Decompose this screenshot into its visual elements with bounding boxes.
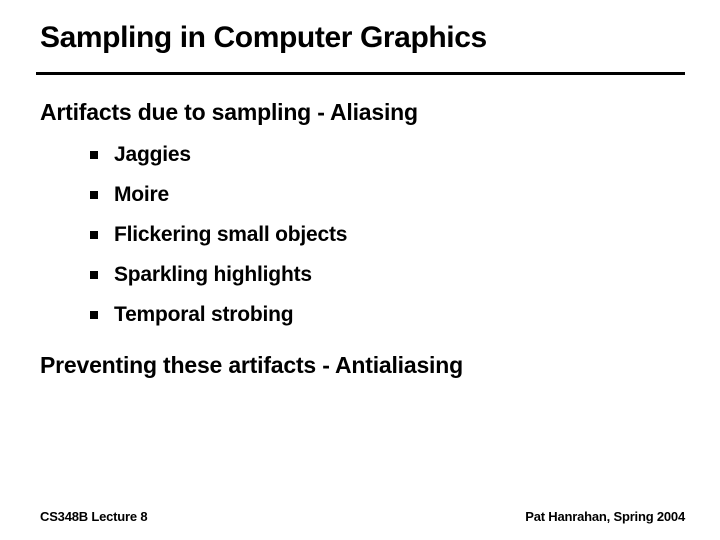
title-divider [36, 72, 685, 75]
list-item: Flickering small objects [40, 219, 690, 259]
list-item: Jaggies [40, 139, 690, 179]
list-item-label: Temporal strobing [114, 303, 293, 326]
footer-course-label: CS348B Lecture 8 [40, 509, 147, 524]
square-bullet-icon [90, 311, 98, 319]
list-item: Temporal strobing [40, 299, 690, 339]
body-closing-line: Preventing these artifacts - Antialiasin… [40, 352, 690, 378]
slide-footer: CS348B Lecture 8 Pat Hanrahan, Spring 20… [40, 509, 685, 524]
slide-canvas: Sampling in Computer Graphics Artifacts … [0, 0, 720, 540]
square-bullet-icon [90, 271, 98, 279]
square-bullet-icon [90, 231, 98, 239]
body-intro-line: Artifacts due to sampling - Aliasing [40, 99, 690, 125]
square-bullet-icon [90, 151, 98, 159]
list-item: Moire [40, 179, 690, 219]
list-item-label: Flickering small objects [114, 223, 347, 246]
list-item: Sparkling highlights [40, 259, 690, 299]
bullet-list: Jaggies Moire Flickering small objects S… [40, 139, 690, 339]
square-bullet-icon [90, 191, 98, 199]
list-item-label: Jaggies [114, 143, 191, 166]
list-item-label: Moire [114, 183, 169, 206]
slide-body: Artifacts due to sampling - Aliasing Jag… [40, 99, 690, 378]
footer-author-label: Pat Hanrahan, Spring 2004 [525, 509, 685, 524]
page-title: Sampling in Computer Graphics [40, 20, 690, 56]
list-item-label: Sparkling highlights [114, 263, 312, 286]
